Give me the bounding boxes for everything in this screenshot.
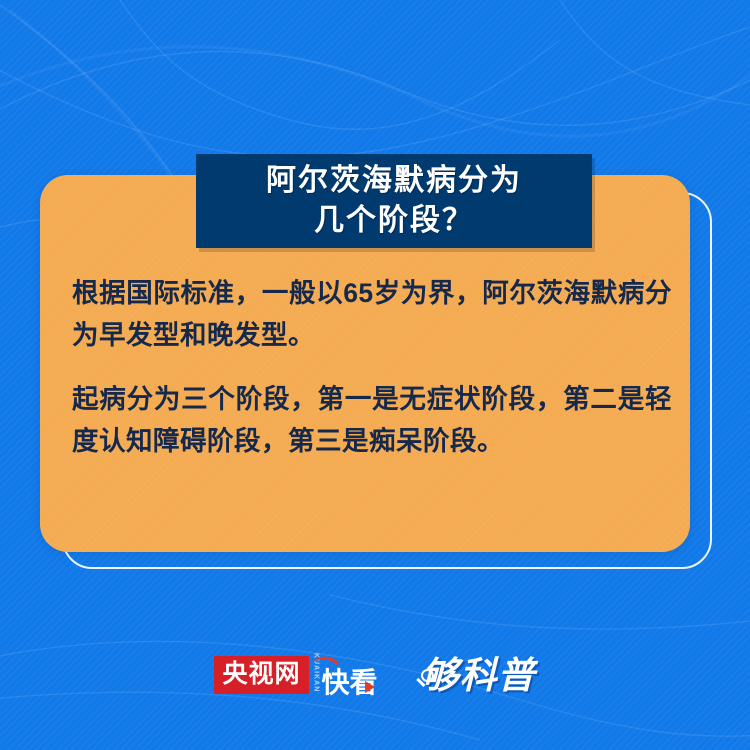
gokepu-logo: 够科普 [422, 657, 536, 694]
kuaikan-logo-group: KUAIKAN 快看 [312, 653, 378, 697]
title-banner: 阿尔茨海默病分为 几个阶段？ [196, 154, 592, 248]
gokepu-wordmark: 够科普 [422, 657, 536, 694]
play-triangle-icon [365, 681, 375, 693]
paragraph-1: 根据国际标准，一般以65岁为界，阿尔茨海默病分为早发型和晚发型。 [72, 272, 672, 356]
paragraph-2: 起病分为三个阶段，第一是无症状阶段，第二是轻度认知障碍阶段，第三是痴呆阶段。 [72, 378, 672, 462]
magnifier-icon [421, 669, 434, 682]
title-line-2: 几个阶段？ [314, 201, 474, 241]
footer-logos: 央视网 KUAIKAN 快看 够科普 [0, 640, 750, 710]
kuaikan-wordmark: 快看 [322, 669, 378, 697]
title-line-1: 阿尔茨海默病分为 [266, 161, 522, 201]
cctv-kuaikan-logo: 央视网 KUAIKAN 快看 [214, 653, 377, 697]
body-text-block: 根据国际标准，一般以65岁为界，阿尔茨海默病分为早发型和晚发型。 起病分为三个阶… [72, 272, 672, 462]
cctv-wordmark: 央视网 [214, 656, 308, 694]
poster-canvas: 阿尔茨海默病分为 几个阶段？ 根据国际标准，一般以65岁为界，阿尔茨海默病分为早… [0, 0, 750, 750]
